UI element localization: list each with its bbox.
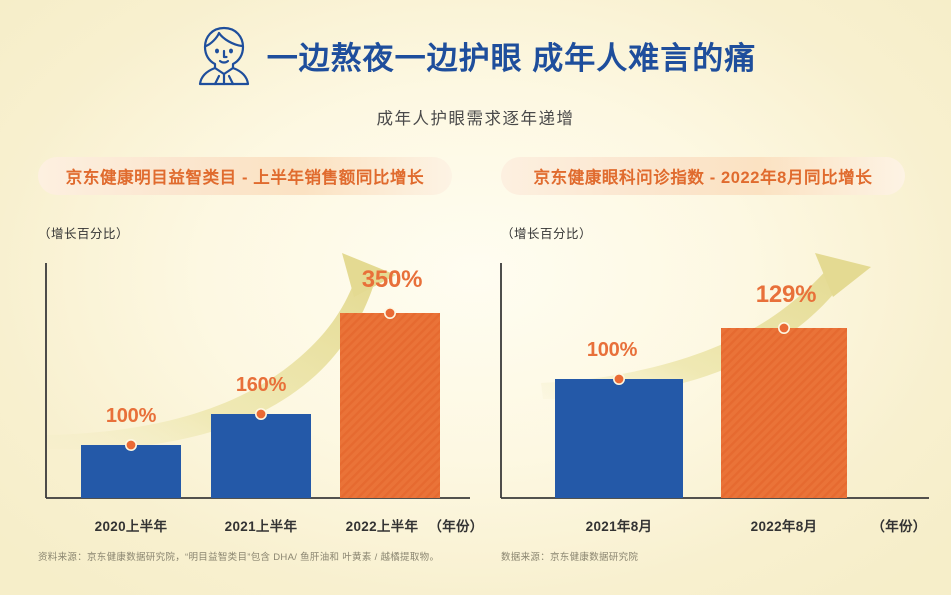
header: 一边熬夜一边护眼 成年人难言的痛 成年人护眼需求逐年递增 — [0, 24, 951, 129]
bar-marker-right-0 — [614, 374, 624, 384]
value-label-right-0: 100% — [587, 339, 637, 362]
bar-marker-left-1 — [256, 409, 266, 419]
x-label-left-0: 2020上半年 — [95, 515, 168, 535]
chart-title-pill-right: 京东健康眼科问诊指数 - 2022年8月同比增长 — [501, 157, 905, 195]
footnote-left: 资料来源：京东健康数据研究院，“明目益智类目”包含 DHA/ 鱼肝油和 叶黄素 … — [38, 549, 439, 563]
person-avatar-icon — [195, 24, 253, 86]
value-label-left-2: 350% — [362, 266, 423, 294]
y-axis-caption-right: （增长百分比） — [501, 223, 592, 242]
bar-marker-left-0 — [126, 440, 136, 450]
value-label-right-1: 129% — [756, 281, 817, 309]
footnote-right: 数据来源：京东健康数据研究院 — [501, 549, 638, 563]
bar-marker-left-2 — [385, 308, 395, 318]
page-title: 一边熬夜一边护眼 成年人难言的痛 — [267, 33, 757, 78]
bar-right-1 — [721, 328, 847, 498]
x-label-right-0: 2021年8月 — [586, 515, 653, 535]
chart-panel-left: 京东健康明目益智类目 - 上半年销售额同比增长 （增长百分比） — [24, 157, 476, 595]
title-row: 一边熬夜一边护眼 成年人难言的痛 — [0, 24, 951, 86]
bar-marker-right-1 — [779, 323, 789, 333]
bar-left-1 — [211, 414, 311, 498]
infographic-canvas: 一边熬夜一边护眼 成年人难言的痛 成年人护眼需求逐年递增 京东健康明目益智类目 … — [0, 0, 951, 595]
x-axis-unit-left: （年份） — [428, 515, 483, 535]
value-label-left-0: 100% — [106, 405, 156, 428]
x-label-left-2: 2022上半年 — [346, 515, 419, 535]
chart-panel-right: 京东健康眼科问诊指数 - 2022年8月同比增长 （增长百分比） — [489, 157, 935, 595]
bar-chart-right: 100% 129% — [489, 253, 935, 513]
bar-right-0 — [555, 379, 683, 498]
x-label-left-1: 2021上半年 — [225, 515, 298, 535]
x-axis-labels-right: 2021年8月 2022年8月 （年份） — [489, 515, 935, 539]
page-subtitle: 成年人护眼需求逐年递增 — [0, 105, 951, 129]
y-axis-caption-left: （增长百分比） — [38, 223, 129, 242]
bar-left-2 — [340, 313, 440, 498]
x-label-right-1: 2022年8月 — [751, 515, 818, 535]
panels-container: 京东健康明目益智类目 - 上半年销售额同比增长 （增长百分比） — [0, 157, 951, 595]
value-label-left-1: 160% — [236, 374, 286, 397]
bar-chart-left: 100% 160% 350% — [24, 253, 476, 513]
chart-title-pill-left: 京东健康明目益智类目 - 上半年销售额同比增长 — [38, 157, 452, 195]
x-axis-labels-left: 2020上半年 2021上半年 2022上半年 （年份） — [24, 515, 476, 539]
x-axis-unit-right: （年份） — [871, 515, 926, 535]
bar-left-0 — [81, 445, 181, 498]
